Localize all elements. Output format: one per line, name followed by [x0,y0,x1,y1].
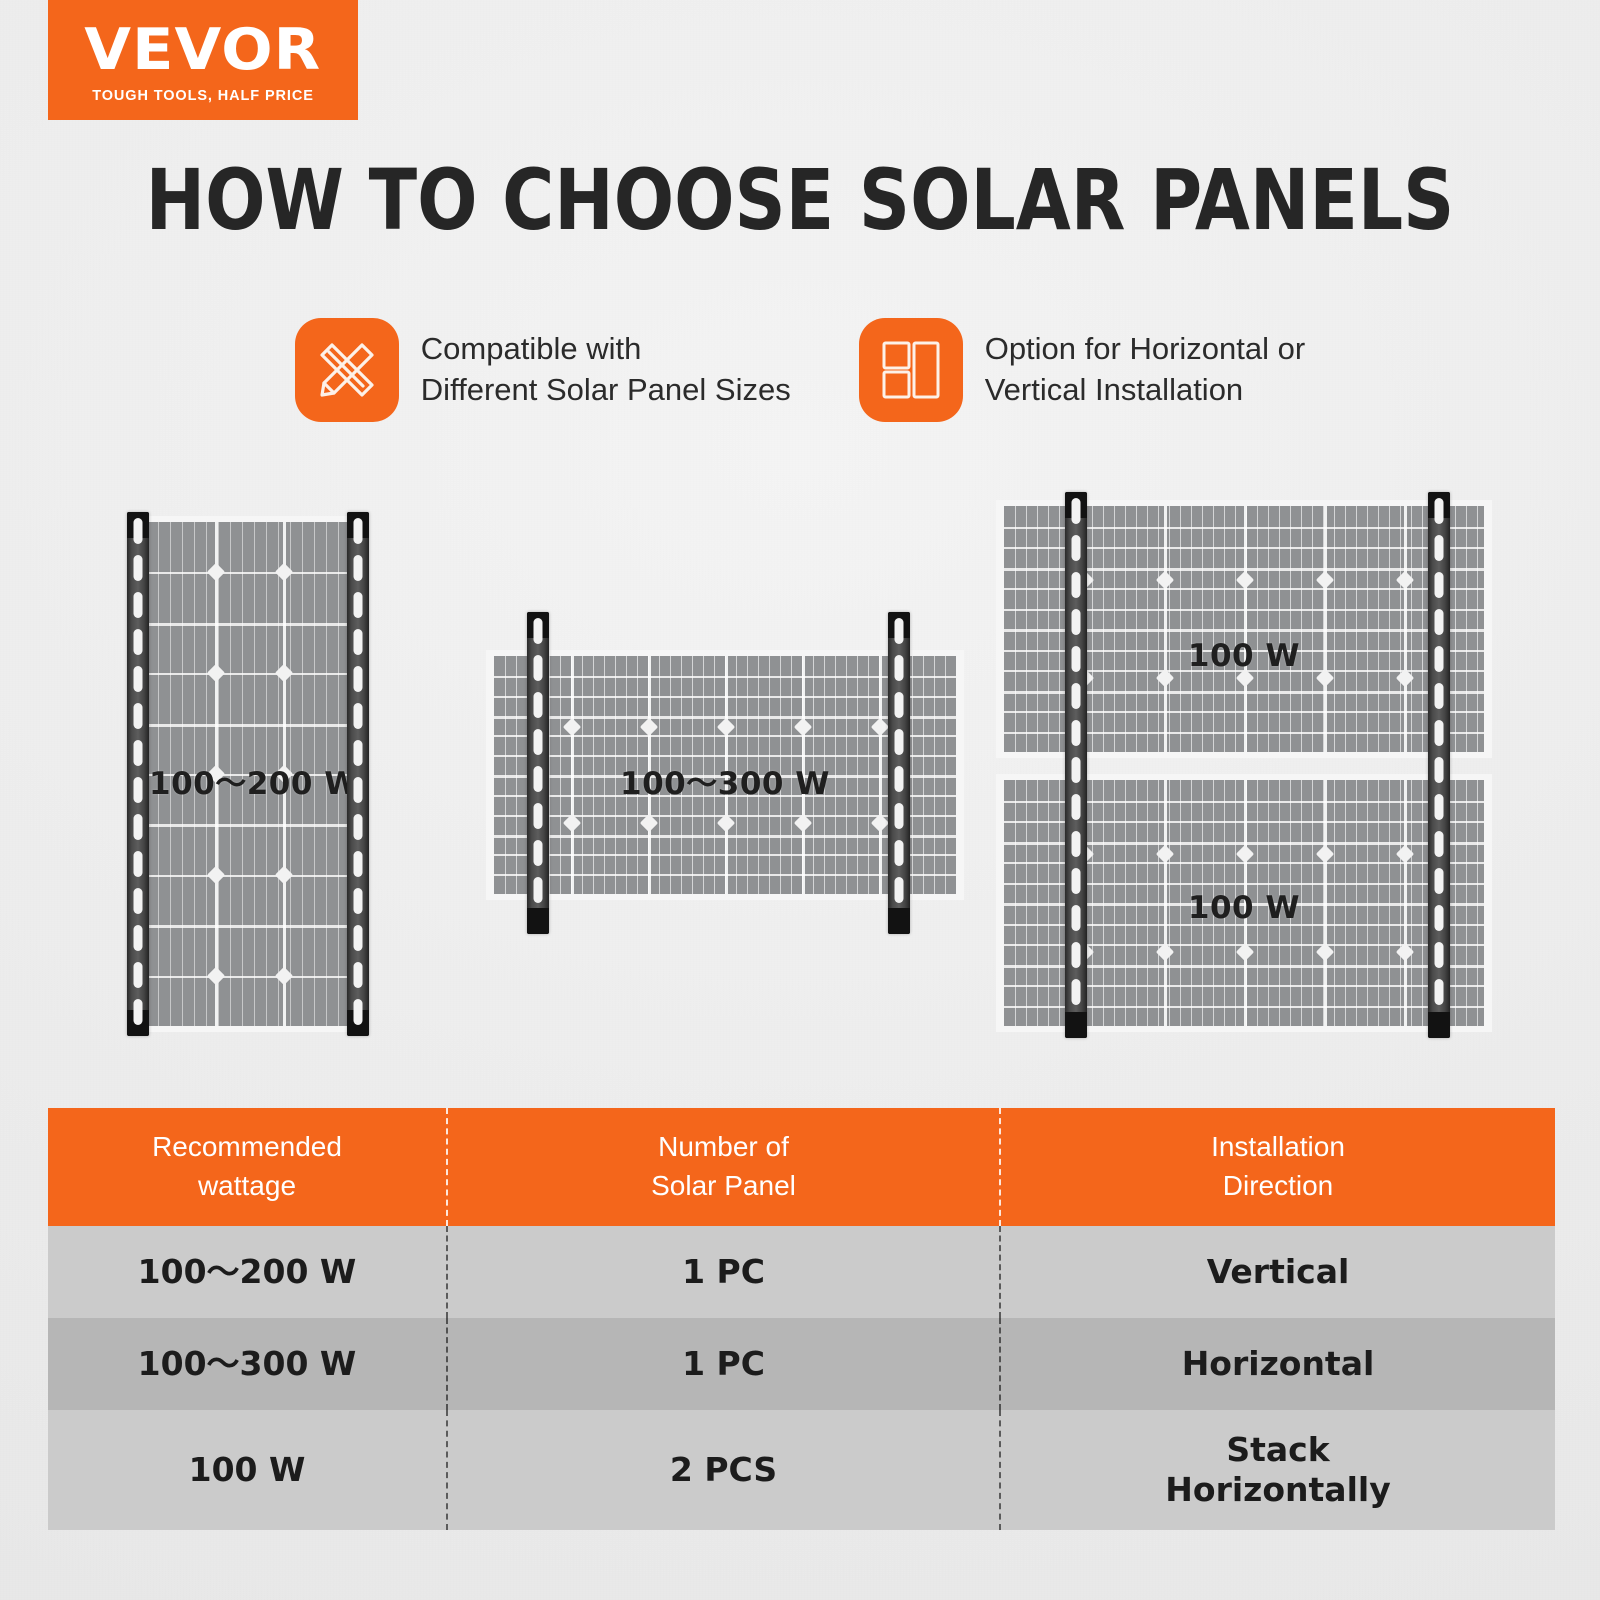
feature-line-2: Different Solar Panel Sizes [421,370,791,411]
cell-count: 1 PC [447,1226,1000,1318]
cell-wattage: 100～300 W [48,1318,447,1410]
table-row: 100～300 W 1 PC Horizontal [48,1318,1555,1410]
panel-wattage-label: 100～200 W [149,758,349,803]
cell-wattage: 100～200 W [48,1226,447,1318]
mounting-rail-left [1065,492,1087,1038]
cell-count: 1 PC [447,1318,1000,1410]
mounting-rail-right [347,512,369,1036]
feature-install-direction: Option for Horizontal or Vertical Instal… [859,318,1305,422]
brand-logo: VEVOR TOUGH TOOLS, HALF PRICE [48,0,358,120]
column-header-count: Number of Solar Panel [447,1108,1000,1226]
brand-tagline: TOUGH TOOLS, HALF PRICE [92,88,314,104]
mounting-rail-right [1428,492,1450,1038]
feature-line-1: Compatible with [421,329,791,370]
specification-table: Recommended wattage Number of Solar Pane… [48,1108,1555,1530]
table-header-row: Recommended wattage Number of Solar Pane… [48,1108,1555,1226]
column-header-wattage: Recommended wattage [48,1108,447,1226]
direction-line-2: Horizontally [1001,1470,1555,1510]
table-row: 100～200 W 1 PC Vertical [48,1226,1555,1318]
cell-direction: Vertical [1000,1226,1555,1318]
header-line-1: Installation [1001,1128,1555,1167]
header-line-2: Direction [1001,1167,1555,1206]
feature-badges: Compatible with Different Solar Panel Si… [0,318,1600,422]
panel-wattage-label: 100～300 W [494,758,956,803]
panel-layout-icon [859,318,963,422]
cell-count: 2 PCS [447,1410,1000,1530]
solar-panel-diagram: 100～200 W 100～300 W 100 W 100 W [0,470,1600,1080]
feature-label: Option for Horizontal or Vertical Instal… [985,329,1305,411]
table-row: 100 W 2 PCS Stack Horizontally [48,1410,1555,1530]
direction-line-1: Stack [1001,1430,1555,1470]
header-line-1: Recommended [48,1128,446,1167]
header-line-2: wattage [48,1167,446,1206]
cell-direction: Stack Horizontally [1000,1410,1555,1530]
mounting-rail-left [127,512,149,1036]
mounting-rail-right [888,612,910,934]
cell-direction: Horizontal [1000,1318,1555,1410]
page-title: HOW TO CHOOSE SOLAR PANELS [48,158,1552,242]
brand-name: VEVOR [85,22,322,79]
feature-line-2: Vertical Installation [985,370,1305,411]
header-line-2: Solar Panel [448,1167,999,1206]
feature-label: Compatible with Different Solar Panel Si… [421,329,791,411]
ruler-pencil-icon [295,318,399,422]
feature-line-1: Option for Horizontal or [985,329,1305,370]
column-header-direction: Installation Direction [1000,1108,1555,1226]
cell-wattage: 100 W [48,1410,447,1530]
feature-compatible-sizes: Compatible with Different Solar Panel Si… [295,318,791,422]
mounting-rail-left [527,612,549,934]
header-line-1: Number of [448,1128,999,1167]
